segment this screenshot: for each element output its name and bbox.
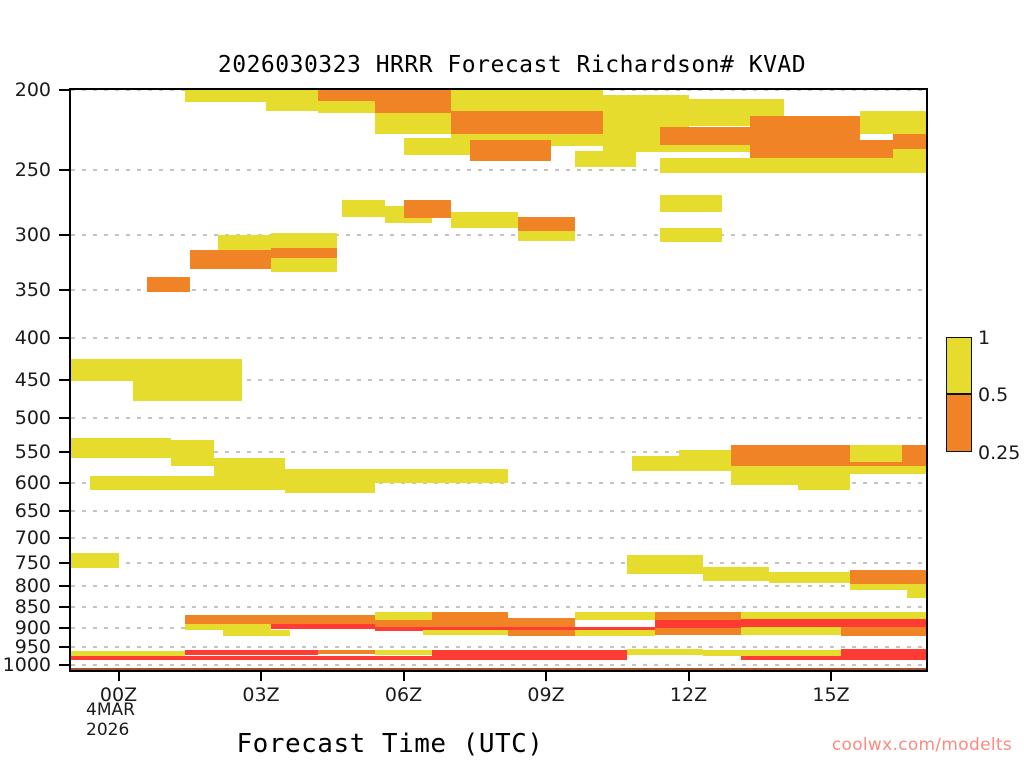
heatmap-cell [841,649,927,656]
heatmap-cell [575,612,656,619]
y-axis-tick-200 [59,89,69,91]
heatmap-cell [133,381,242,401]
y-axis-label-650: 650 [15,500,51,522]
heatmap-cell [750,116,859,140]
x-axis-tick-12Z [688,672,690,681]
x-axis-date-day: 4MAR [86,700,135,720]
heatmap-cell [731,466,926,474]
heatmap-cell [769,572,850,583]
y-axis-tick-350 [59,289,69,291]
heatmap-cell [518,231,575,241]
heatmap-cell [655,612,741,620]
gridline-1000 [71,664,926,666]
x-axis-label-09Z: 09Z [527,684,564,706]
heatmap-cell [423,630,509,635]
y-axis-tick-650 [59,510,69,512]
x-axis-label-15Z: 15Z [812,684,849,706]
heatmap-cell [375,113,451,134]
y-axis-tick-900 [59,627,69,629]
y-axis-label-750: 750 [15,552,51,574]
heatmap-cell [627,649,703,655]
y-axis-label-300: 300 [15,224,51,246]
x-axis-tick-15Z [830,672,832,681]
heatmap-cell [404,138,471,155]
heatmap-cell [741,612,926,619]
y-axis-label-400: 400 [15,327,51,349]
heatmap-cell [185,615,375,624]
y-axis-tick-1000 [59,664,69,666]
heatmap-cell [660,127,750,144]
heatmap-cell [731,445,850,466]
chart-page: 2026030323 HRRR Forecast Richardson# KVA… [0,0,1024,768]
heatmap-cell [660,195,722,212]
heatmap-cell [266,90,318,97]
heatmap-cell [508,618,575,627]
heatmap-cell [627,555,703,574]
x-axis-label-03Z: 03Z [242,684,279,706]
heatmap-cell [750,140,893,158]
colorbar-segment-high [946,337,972,394]
y-axis-tick-850 [59,606,69,608]
heatmap-cell [285,483,375,494]
heatmap-cell [508,630,575,636]
gridline-400 [71,337,926,339]
heatmap-cell [214,458,285,475]
heatmap-cell [841,627,927,636]
y-axis-label-450: 450 [15,369,51,391]
heatmap-cell [147,277,190,293]
colorbar-label-0.5: 0.5 [978,384,1008,406]
y-axis-label-850: 850 [15,596,51,618]
x-axis-label-12Z: 12Z [670,684,707,706]
y-axis-tick-700 [59,537,69,539]
heatmap-cell [185,90,266,102]
x-axis-label-06Z: 06Z [385,684,422,706]
x-axis-tick-03Z [260,672,262,681]
heatmap-cell [271,248,338,258]
gridline-950 [71,646,926,648]
heatmap-cell [71,438,171,458]
heatmap-cell [627,656,741,660]
heatmap-cell [342,200,385,217]
heatmap-cell [190,250,271,269]
y-axis-label-200: 200 [15,79,51,101]
page-title: 2026030323 HRRR Forecast Richardson# KVA… [0,52,1024,78]
heatmap-cell [660,158,926,172]
y-axis-tick-450 [59,379,69,381]
heatmap-cell [893,134,926,149]
heatmap-canvas [71,90,926,670]
heatmap-cell [860,111,927,134]
y-axis-tick-600 [59,482,69,484]
x-axis-tick-00Z [118,672,120,681]
x-axis-tick-09Z [545,672,547,681]
heatmap-cell [546,134,603,146]
heatmap-cell [603,95,689,130]
plot-area [69,88,928,672]
gridline-300 [71,234,926,236]
y-axis-label-1000: 1000 [3,654,51,676]
heatmap-cell [679,450,731,470]
heatmap-cell [266,97,318,111]
heatmap-cell [741,619,926,627]
heatmap-cell [71,553,119,568]
gridline-850 [71,606,926,608]
heatmap-cell [318,90,375,101]
heatmap-cell [171,440,214,465]
heatmap-cell [71,359,242,381]
heatmap-cell [451,111,603,134]
y-axis-label-350: 350 [15,279,51,301]
heatmap-cell [731,474,798,485]
heatmap-cell [798,474,850,490]
heatmap-cell [632,456,680,471]
heatmap-cell [518,217,575,232]
heatmap-cell [907,590,926,598]
heatmap-cell [285,469,508,482]
gridline-800 [71,585,926,587]
heatmap-cell [404,200,452,218]
heatmap-cell [451,90,603,111]
heatmap-cell [655,628,741,635]
heatmap-cell [655,620,741,627]
heatmap-cell [703,567,770,581]
heatmap-cell [850,445,902,462]
x-axis-title: Forecast Time (UTC) [0,729,780,759]
gridline-650 [71,510,926,512]
heatmap-cell [185,650,318,655]
y-axis-tick-800 [59,585,69,587]
y-axis-tick-500 [59,417,69,419]
heatmap-cell [660,228,722,242]
heatmap-cell [741,627,841,635]
colorbar: 1 0.5 0.25 [938,298,1024,520]
y-axis-tick-250 [59,169,69,171]
heatmap-cell [90,476,285,490]
heatmap-cell [71,656,926,660]
gridline-700 [71,537,926,539]
heatmap-cell [575,630,656,636]
colorbar-segment-mid [946,394,972,452]
x-axis-tick-06Z [403,672,405,681]
y-axis-tick-550 [59,451,69,453]
y-axis-label-800: 800 [15,575,51,597]
y-axis-label-600: 600 [15,472,51,494]
gridline-500 [71,417,926,419]
heatmap-cell [223,630,290,636]
y-axis-tick-950 [59,646,69,648]
y-axis-label-700: 700 [15,527,51,549]
heatmap-cell [271,258,338,272]
heatmap-cell [218,235,270,250]
y-axis-tick-300 [59,234,69,236]
y-axis-tick-750 [59,562,69,564]
heatmap-cell [271,233,338,248]
heatmap-cell [432,612,508,620]
heatmap-cell [850,570,907,584]
gridline-350 [71,289,926,291]
heatmap-cell [375,90,451,113]
heatmap-cell [375,650,432,655]
y-axis-label-550: 550 [15,441,51,463]
heatmap-cell [318,650,375,654]
colorbar-label-0.25: 0.25 [978,442,1020,464]
y-axis-tick-400 [59,337,69,339]
watermark: coolwx.com/modelts [832,735,1012,755]
heatmap-cell [470,140,551,161]
heatmap-cell [575,151,637,167]
y-axis-label-500: 500 [15,407,51,429]
y-axis: 2002503003504004505005506006507007508008… [0,0,69,768]
y-axis-label-250: 250 [15,159,51,181]
colorbar-body [946,337,972,452]
heatmap-cell [451,212,518,228]
colorbar-label-1: 1 [978,327,990,349]
terrain-band [71,668,926,670]
heatmap-cell [375,612,432,619]
gridline-750 [71,562,926,564]
heatmap-cell [271,624,376,629]
heatmap-cell [318,101,375,113]
